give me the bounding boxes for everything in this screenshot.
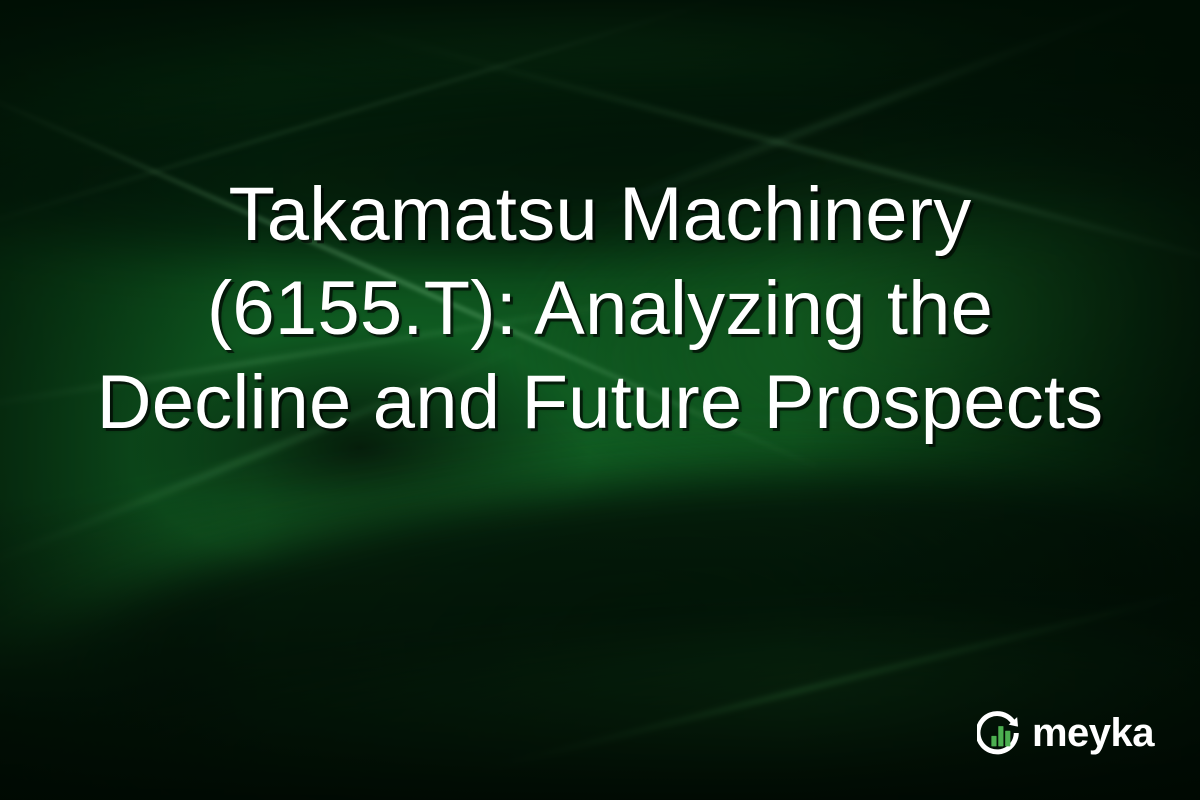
share-card: Takamatsu Machinery (6155.T): Analyzing … [0,0,1200,800]
meyka-circular-bar-chart-icon [977,710,1023,756]
title-line-1: Takamatsu Machinery [40,168,1160,262]
brand-logo[interactable]: meyka [977,710,1154,756]
wave-band-top-arc [93,0,1132,93]
page-title: Takamatsu Machinery (6155.T): Analyzing … [40,168,1160,450]
title-line-2: (6155.T): Analyzing the [40,262,1160,356]
title-block: Takamatsu Machinery (6155.T): Analyzing … [0,168,1200,450]
brand-wordmark: meyka [1032,713,1154,753]
title-line-3: Decline and Future Prospects [40,356,1160,450]
wave-band-bottom-glow [0,588,1200,800]
